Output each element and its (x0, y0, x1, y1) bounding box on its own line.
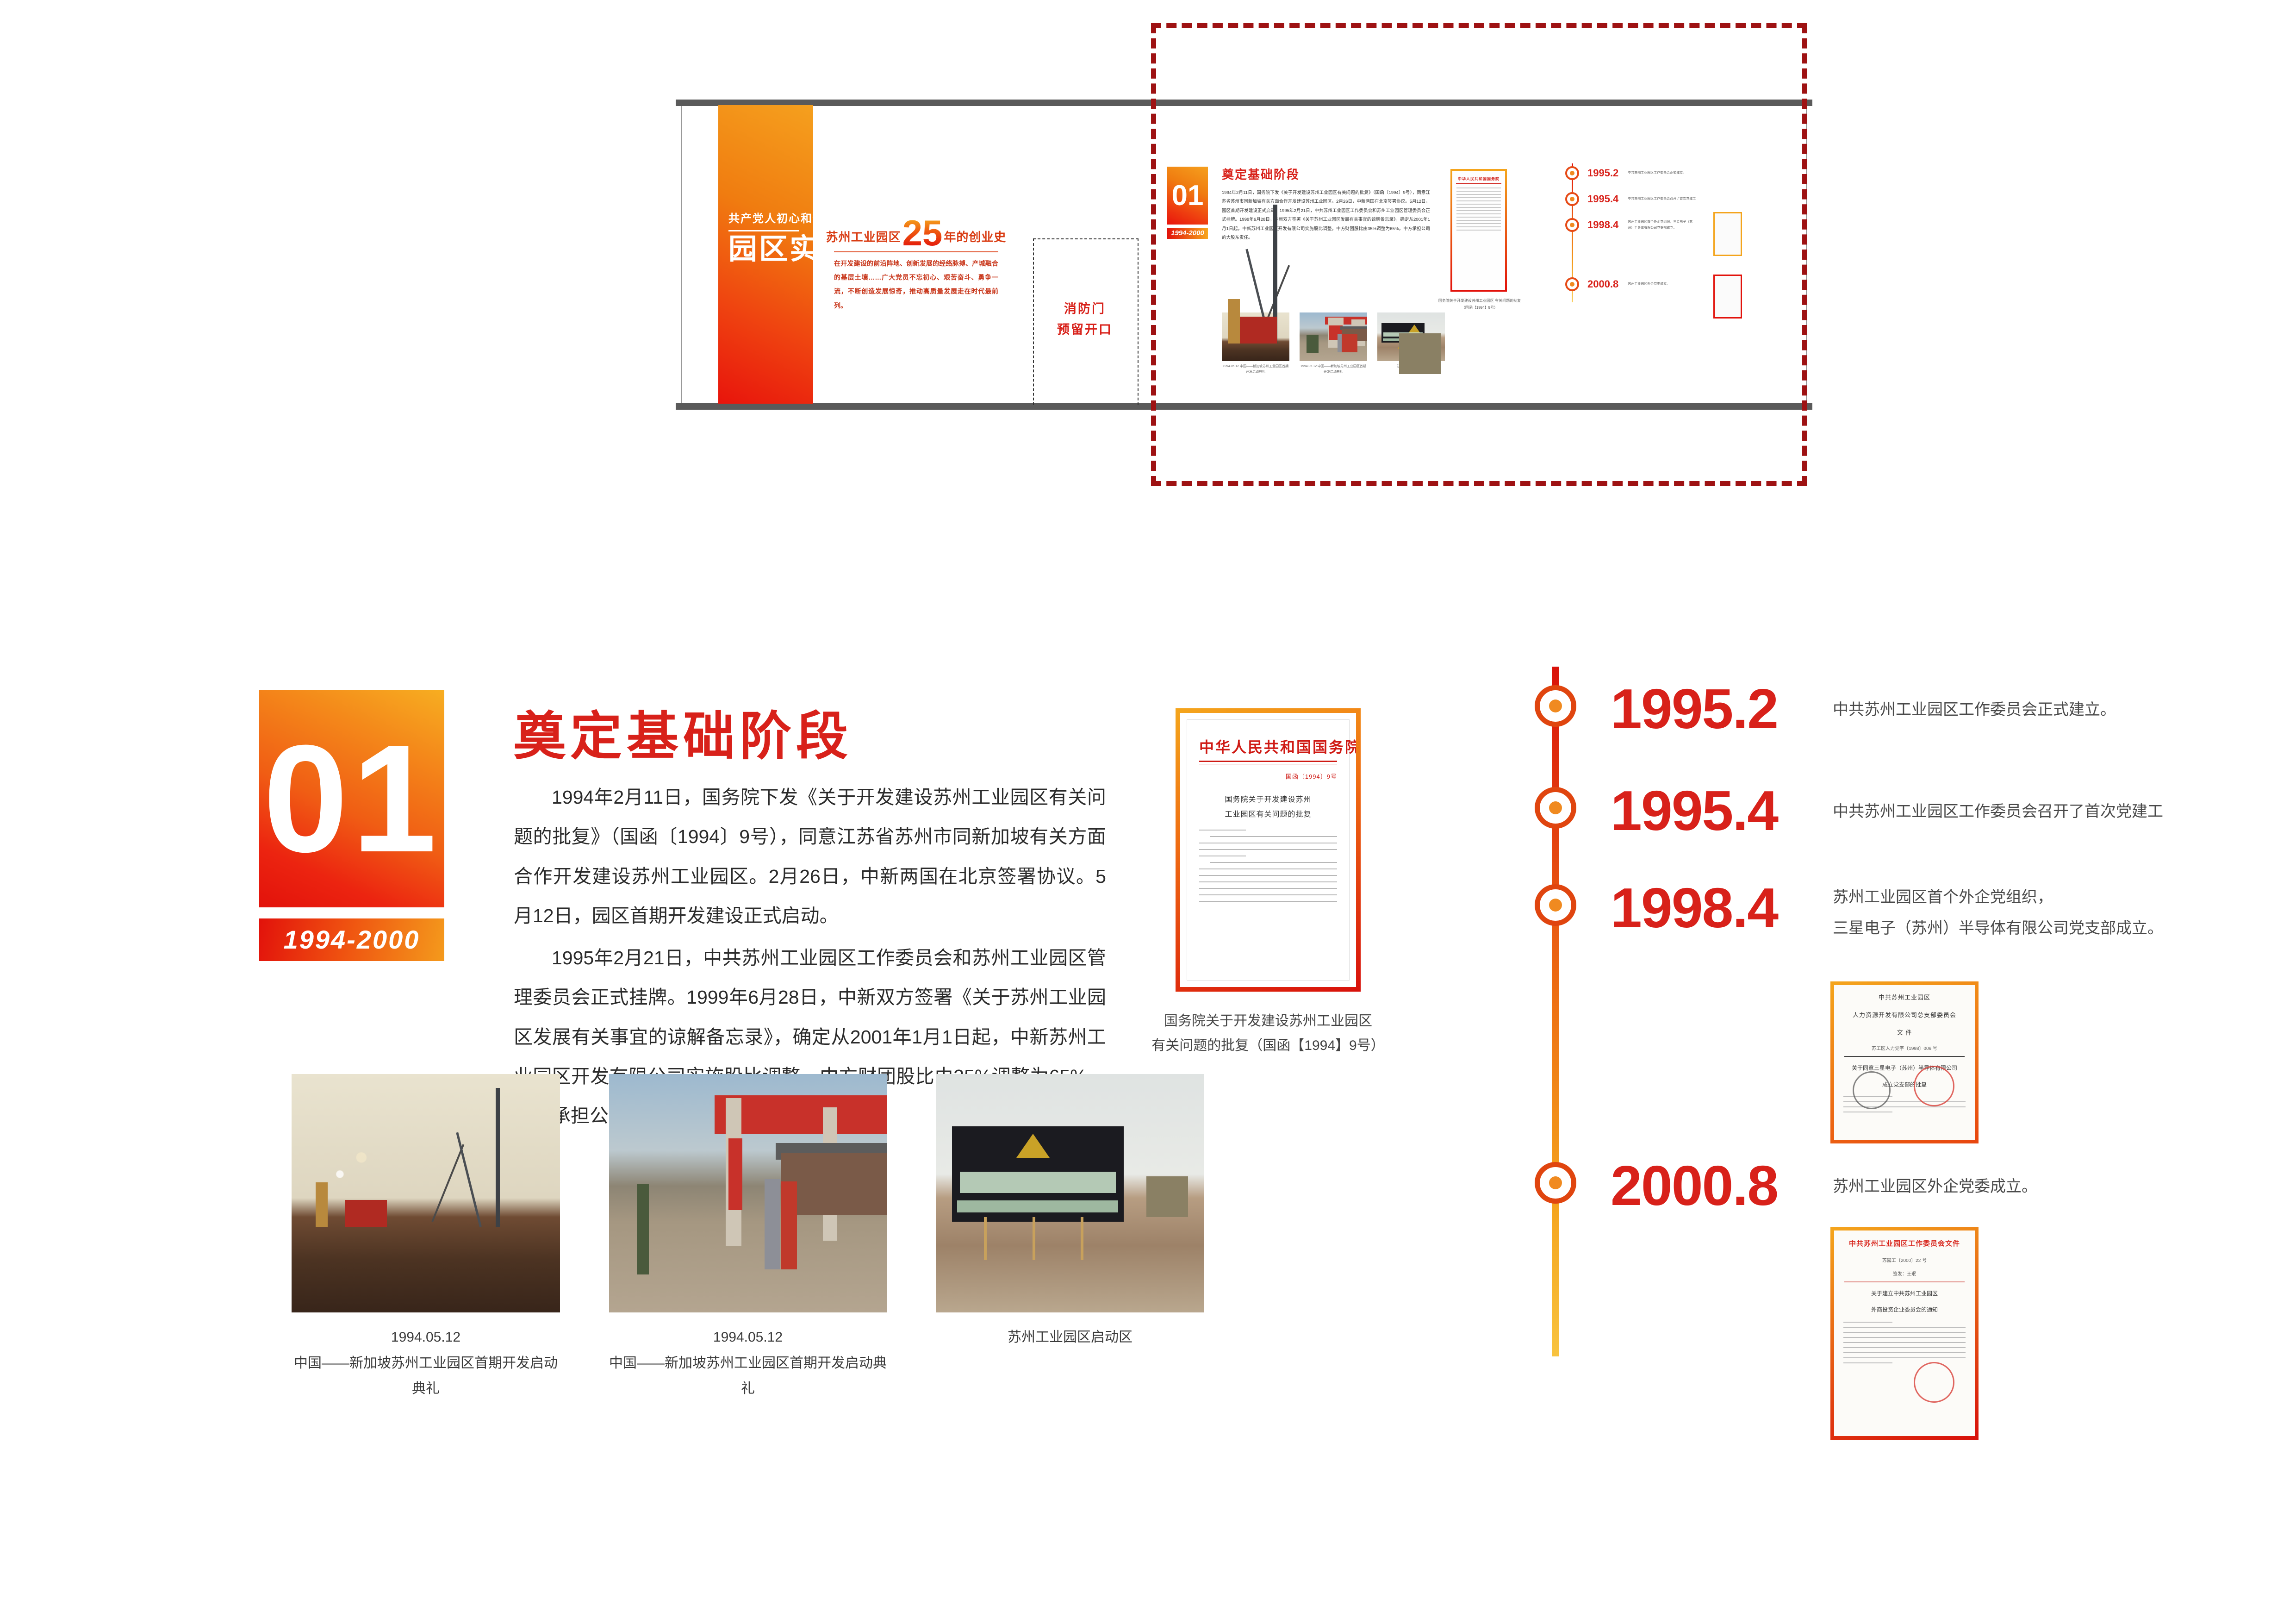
photo-caption-date: 1994.05.12 (609, 1324, 887, 1350)
preview-council-doc-header: 中华人民共和国国务院 (1452, 176, 1505, 181)
timeline-year: 1995.4 (1611, 782, 1778, 839)
section-badge-number: 01 (259, 690, 444, 907)
timeline-marker-icon (1535, 685, 1576, 727)
timeline-document-2000: 中共苏州工业园区工作委员会文件 苏园工〔2000〕22 号 签发：王珉 关于建立… (1830, 1227, 1979, 1440)
timeline-doc-header: 中共苏州工业园区工作委员会文件 (1834, 1238, 1975, 1250)
preview-photo-item: 1994.05.12 中国——新加坡苏州工业园区首期开发启动典礼 (1222, 312, 1289, 375)
timeline-description: 中共苏州工业园区工作委员会正式建立。 (1833, 694, 2296, 725)
timeline-doc-rule (1844, 1056, 1965, 1057)
timeline-description: 中共苏州工业园区工作委员会召开了首次党建工 (1833, 796, 2296, 827)
official-seal-icon (1914, 1362, 1954, 1403)
preview-headline-block: 苏州工业园区 25 年的创业史 在开发建设的前沿阵地、创新发展的经络脉搏、产城融… (834, 218, 998, 312)
photo-caption-text: 中国——新加坡苏州工业园区首期开发启动典礼 (292, 1350, 560, 1402)
timeline-doc-rule (1844, 1281, 1965, 1282)
preview-timeline-desc: 苏州工业园区首个外企党组织，三星电子（苏州）半导体有限公司党支部成立。 (1628, 219, 1697, 231)
preview-headline-number: 25 (901, 218, 944, 248)
section-paragraph: 1994年2月11日，国务院下发《关于开发建设苏州工业园区有关问题的批复》（国函… (514, 778, 1106, 936)
main-slide: 01 1994-2000 奠定基础阶段 1994年2月11日，国务院下发《关于开… (0, 639, 2296, 1565)
preview-photo-image (1300, 312, 1367, 361)
signature-seal-icon (1853, 1071, 1891, 1109)
preview-timeline-year: 1995.2 (1587, 167, 1618, 179)
timeline-doc-number: 苏工区人力党字〔1998〕006 号 (1834, 1044, 1975, 1051)
preview-timeline-year: 2000.8 (1587, 278, 1618, 290)
section-badge: 01 1994-2000 (259, 690, 444, 961)
state-council-document: 中华人民共和国国务院 国函〔1994〕9号 国务院关于开发建设苏州 工业园区有关… (1176, 708, 1361, 992)
preview-council-doc: 中华人民共和国国务院 (1450, 169, 1507, 292)
photo-groundbreaking-ceremony (292, 1074, 560, 1312)
state-council-doc-header: 中华人民共和国国务院 (1199, 736, 1337, 757)
doc-title-line2: 工业园区有关问题的批复 (1199, 807, 1337, 822)
preview-timeline-desc: 中共苏州工业园区工作委员会正式建立。 (1628, 170, 1697, 176)
timeline-doc-header-line2: 人力资源开发有限公司总支部委员会 (1834, 1010, 1975, 1020)
timeline-doc-number: 苏园工〔2000〕22 号 (1834, 1256, 1975, 1263)
photo-earthworks-gate (609, 1074, 887, 1312)
timeline-marker-icon (1535, 884, 1576, 926)
preview-council-doc-body (1456, 187, 1501, 231)
preview-council-doc-rule (1456, 183, 1501, 184)
preview-banner-eyebrow: 共产党人初心和使命的 (728, 209, 806, 225)
preview-photo-item: 苏州工业园区启动区 (1377, 312, 1445, 375)
preview-photo-image (1222, 312, 1289, 361)
timeline-description: 苏州工业园区外企党委成立。 (1833, 1171, 2296, 1202)
preview-timeline-marker-icon (1565, 277, 1579, 291)
state-council-document-page: 中华人民共和国国务院 国函〔1994〕9号 国务院关于开发建设苏州 工业园区有关… (1187, 719, 1350, 981)
timeline-spine (1552, 667, 1559, 1356)
preview-timeline-item: 1995.2 中共苏州工业园区工作委员会正式建立。 (1565, 166, 1697, 180)
photo-caption: 1994.05.12 中国——新加坡苏州工业园区首期开发启动典礼 (609, 1324, 887, 1402)
photo-caption: 1994.05.12 中国——新加坡苏州工业园区首期开发启动典礼 (292, 1324, 560, 1402)
photo-caption-text: 苏州工业园区启动区 (936, 1324, 1204, 1350)
photo-gallery: 1994.05.12 中国——新加坡苏州工业园区首期开发启动典礼 1994.05… (292, 1074, 1204, 1402)
preview-timeline-marker-icon (1565, 192, 1579, 206)
timeline-description: 苏州工业园区首个外企党组织， (1833, 882, 2296, 912)
poster-canvas: 共产党人初心和使命的 园区实践 苏州工业园区 25 年的创业史 在开发建设的前沿… (0, 0, 2296, 1624)
preview-timeline-year: 1998.4 (1587, 219, 1618, 231)
doc-number: 国函〔1994〕9号 (1199, 772, 1337, 781)
timeline-doc-title-line2: 外商投资企业委员会的通知 (1834, 1305, 1975, 1315)
timeline-year: 1998.4 (1611, 880, 1778, 936)
timeline-doc-header-line3: 文 件 (1834, 1028, 1975, 1038)
preview-banner-title: 园区实践 (728, 235, 806, 264)
preview-timeline-year: 1995.4 (1587, 193, 1618, 205)
wall-layout-preview: 共产党人初心和使命的 园区实践 苏州工业园区 25 年的创业史 在开发建设的前沿… (681, 100, 1807, 410)
photo-caption-date: 1994.05.12 (292, 1324, 560, 1350)
preview-timeline-marker-icon (1565, 166, 1579, 180)
preview-timeline-desc: 苏州工业园区外企党委成立。 (1628, 281, 1697, 287)
preview-orange-banner: 共产党人初心和使命的 园区实践 (718, 105, 813, 404)
preview-timeline: 1995.2 中共苏州工业园区工作委员会正式建立。 1995.4 中共苏州工业园… (1565, 163, 1783, 302)
preview-headline-desc: 在开发建设的前沿阵地、创新发展的经络脉搏、产城融合的基层土壤……广大党员不忘初心… (834, 256, 998, 312)
preview-banner-rule (728, 230, 799, 231)
preview-badge-number: 01 (1167, 167, 1208, 225)
timeline-year: 1995.2 (1611, 681, 1778, 737)
preview-timeline-marker-icon (1565, 218, 1579, 232)
page-title: 奠定基础阶段 (514, 694, 852, 769)
preview-photo-caption: 1994.05.12 中国——新加坡苏州工业园区首期开发启动典礼 (1300, 364, 1367, 375)
preview-timeline-item: 2000.8 苏州工业园区外企党委成立。 (1565, 277, 1697, 291)
photo-item: 1994.05.12 中国——新加坡苏州工业园区首期开发启动典礼 (609, 1074, 887, 1402)
preview-banner-text: 共产党人初心和使命的 园区实践 (728, 209, 806, 264)
timeline-doc-sign: 签发：王珉 (1834, 1270, 1975, 1277)
preview-photo-image (1377, 312, 1445, 361)
preview-timeline-item: 1995.4 中共苏州工业园区工作委员会召开了首次党建工 (1565, 192, 1697, 206)
fire-door-line1: 消防门 (1041, 299, 1129, 319)
doc-caption-line2: 有关问题的批复（国函【1994】9号） (1120, 1034, 1416, 1058)
official-seal-icon (1914, 1066, 1954, 1106)
doc-caption-line1: 国务院关于开发建设苏州工业园区 (1120, 1009, 1416, 1034)
timeline-doc-title-line1: 关于同意三星电子（苏州）半导体有限公司 (1834, 1063, 1975, 1074)
preview-photo-caption: 1994.05.12 中国——新加坡苏州工业园区首期开发启动典礼 (1222, 364, 1289, 375)
preview-timeline-doc (1713, 275, 1742, 319)
doc-header-rule-thin (1199, 764, 1337, 764)
timeline-document-1998: 中共苏州工业园区 人力资源开发有限公司总支部委员会 文 件 苏工区人力党字〔19… (1830, 981, 1979, 1143)
preview-council-doc-caption: 国务院关于开发建设苏州工业园区 有关问题的批复（国函【1994】9号） (1436, 297, 1524, 311)
timeline: 1995.2 中共苏州工业园区工作委员会正式建立。 1995.4 中共苏州工业园… (1500, 648, 2296, 1528)
photo-item: 苏州工业园区启动区 (936, 1074, 1204, 1402)
timeline-year: 2000.8 (1611, 1157, 1778, 1214)
state-council-document-caption: 国务院关于开发建设苏州工业园区 有关问题的批复（国函【1994】9号） (1120, 1009, 1416, 1058)
preview-headline-right: 年的创业史 (944, 228, 1006, 248)
timeline-doc-body (1843, 1322, 1966, 1363)
doc-header-rule (1199, 761, 1337, 762)
timeline-marker-icon (1535, 787, 1576, 829)
timeline-marker-icon (1535, 1162, 1576, 1204)
preview-timeline-item: 1998.4 苏州工业园区首个外企党组织，三星电子（苏州）半导体有限公司党支部成… (1565, 218, 1697, 232)
preview-headline-left: 苏州工业园区 (826, 228, 901, 248)
preview-timeline-doc (1713, 212, 1742, 256)
preview-section-title: 奠定基础阶段 (1222, 165, 1300, 182)
preview-section-paragraph: 1994年2月11日，国务院下发《关于开发建设苏州工业园区有关问题的批复》（国函… (1222, 188, 1430, 243)
photo-caption: 苏州工业园区启动区 (936, 1324, 1204, 1350)
photo-startup-area-sign (936, 1074, 1204, 1312)
fire-door-note: 消防门 预留开口 (1041, 299, 1129, 340)
preview-timeline-desc: 中共苏州工业园区工作委员会召开了首次党建工 (1628, 196, 1697, 202)
section-badge-years: 1994-2000 (259, 918, 444, 961)
preview-photo-row: 1994.05.12 中国——新加坡苏州工业园区首期开发启动典礼 1994.05… (1222, 312, 1445, 375)
preview-badge-years: 1994-2000 (1167, 228, 1208, 239)
doc-body-lines (1199, 830, 1337, 902)
timeline-description: 三星电子（苏州）半导体有限公司党支部成立。 (1833, 913, 2296, 943)
fire-door-line2: 预留开口 (1041, 319, 1129, 340)
timeline-doc-title-line1: 关于建立中共苏州工业园区 (1834, 1289, 1975, 1299)
doc-title-line1: 国务院关于开发建设苏州 (1199, 793, 1337, 807)
preview-section-thumbnail: 01 1994-2000 奠定基础阶段 1994年2月11日，国务院下发《关于开… (1167, 155, 1787, 359)
timeline-doc-header-line1: 中共苏州工业园区 (1834, 993, 1975, 1003)
photo-item: 1994.05.12 中国——新加坡苏州工业园区首期开发启动典礼 (292, 1074, 560, 1402)
preview-headline-row: 苏州工业园区 25 年的创业史 (834, 218, 998, 248)
preview-photo-item: 1994.05.12 中国——新加坡苏州工业园区首期开发启动典礼 (1300, 312, 1367, 375)
photo-caption-text: 中国——新加坡苏州工业园区首期开发启动典礼 (609, 1350, 887, 1402)
